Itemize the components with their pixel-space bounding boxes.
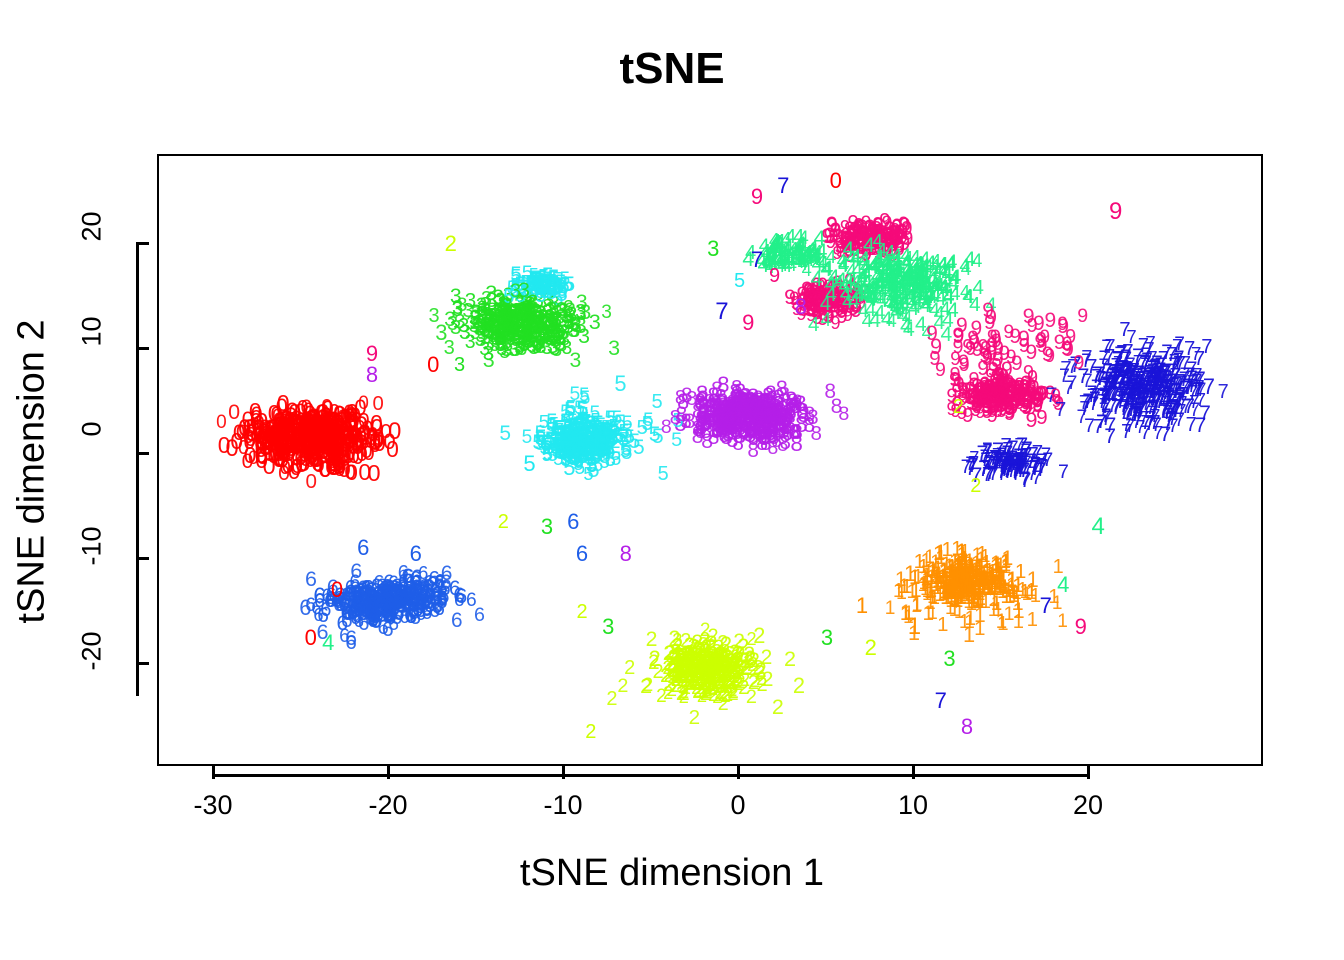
scatter-point: 1	[996, 612, 1008, 633]
scatter-point: 0	[344, 403, 356, 424]
scatter-point: 5	[621, 443, 632, 463]
scatter-point: 7	[751, 249, 763, 271]
scatter-point: 0	[341, 430, 352, 450]
scatter-point: 0	[263, 439, 274, 458]
scatter-point: 7	[1040, 595, 1052, 617]
scatter-point: 2	[680, 632, 691, 652]
scatter-point: 0	[277, 414, 289, 435]
scatter-point: 7	[1187, 373, 1198, 394]
x-tick-label: -30	[173, 790, 253, 821]
scatter-point: 0	[277, 443, 289, 464]
scatter-point: 4	[1057, 574, 1069, 596]
scatter-point: 1	[950, 591, 961, 611]
scatter-point: 4	[900, 252, 912, 273]
y-tick	[136, 662, 149, 665]
scatter-point: 0	[830, 170, 842, 192]
scatter-point: 7	[1030, 457, 1042, 479]
scatter-point: 5	[560, 403, 571, 423]
scatter-point: 5	[594, 434, 605, 454]
scatter-point: 9	[1008, 377, 1018, 395]
scatter-point: 2	[953, 397, 964, 417]
scatter-point: 8	[777, 420, 788, 439]
y-tick-label: 10	[77, 317, 108, 377]
scatter-point: 9	[930, 336, 942, 358]
scatter-point: 8	[699, 414, 711, 435]
scatter-point: 4	[961, 260, 972, 280]
scatter-point: 8	[763, 406, 775, 427]
scatter-point: 7	[1141, 394, 1152, 414]
scatter-point: 2	[784, 648, 796, 670]
scatter-point: 6	[393, 586, 404, 606]
scatter-point: 4	[322, 632, 334, 654]
x-tick-label: 10	[873, 790, 953, 821]
scatter-point: 2	[585, 722, 596, 742]
scatter-point: 0	[367, 425, 378, 445]
x-tick-label: 0	[698, 790, 778, 821]
page-title: tSNE	[0, 44, 1344, 94]
scatter-point: 4	[877, 242, 888, 261]
scatter-point: 8	[795, 296, 807, 318]
scatter-point: 9	[970, 318, 982, 339]
scatter-point: 3	[579, 302, 591, 323]
scatter-point: 7	[1201, 337, 1212, 357]
scatter-point: 9	[1023, 383, 1035, 405]
scatter-point: 8	[675, 388, 686, 408]
scatter-point: 1	[937, 615, 948, 635]
scatter-point: 4	[972, 252, 983, 271]
scatter-point: 2	[708, 645, 719, 664]
scatter-point: 5	[594, 414, 606, 436]
scatter-point: 1	[980, 593, 991, 612]
x-tick	[912, 766, 915, 779]
scatter-point: 0	[427, 354, 439, 376]
scatter-point: 2	[660, 667, 671, 686]
scatter-point: 4	[808, 315, 819, 336]
scatter-point: 0	[338, 446, 350, 468]
scatter-point: 2	[762, 669, 774, 690]
y-tick	[136, 557, 149, 560]
scatter-point: 5	[523, 453, 535, 475]
x-axis-title: tSNE dimension 1	[0, 852, 1344, 895]
scatter-point: 5	[579, 386, 590, 405]
scatter-point: 2	[624, 658, 635, 678]
scatter-point: 3	[556, 300, 567, 320]
scatter-point: 4	[842, 293, 853, 312]
scatter-point: 5	[614, 373, 626, 395]
scatter-point: 9	[1042, 344, 1054, 366]
scatter-point: 6	[576, 543, 588, 565]
scatter-point: 5	[651, 392, 662, 412]
scatter-point: 3	[454, 355, 465, 375]
scatter-point: 3	[601, 303, 612, 322]
y-axis-title: tSNE dimension 2	[11, 166, 54, 778]
scatter-point: 3	[821, 627, 833, 649]
scatter-point: 5	[734, 271, 745, 291]
scatter-point: 5	[584, 424, 595, 443]
scatter-point: 0	[368, 462, 381, 486]
scatter-point: 8	[749, 421, 760, 441]
x-tick	[387, 766, 390, 779]
scatter-point: 9	[1023, 305, 1035, 327]
scatter-point: 7	[715, 300, 728, 324]
scatter-point: 2	[668, 628, 680, 650]
scatter-point: 4	[863, 288, 874, 308]
scatter-point: 0	[297, 416, 308, 437]
scatter-point: 2	[970, 476, 981, 496]
scatter-point: 1	[1011, 592, 1023, 614]
scatter-point: 9	[989, 327, 1001, 348]
scatter-point: 3	[570, 315, 581, 334]
x-tick-label: 20	[1048, 790, 1128, 821]
scatter-point: 9	[1109, 200, 1122, 224]
scatter-point: 2	[577, 602, 588, 622]
scatter-point: 0	[331, 579, 343, 601]
scatter-point: 5	[546, 431, 557, 450]
y-axis-line	[136, 243, 139, 696]
scatter-point: 3	[510, 282, 521, 302]
scatter-point: 7	[1120, 390, 1132, 412]
scatter-point: 8	[620, 543, 632, 565]
scatter-point: 2	[865, 637, 877, 659]
scatter-point: 8	[766, 428, 777, 447]
y-tick	[136, 452, 149, 455]
scatter-point: 7	[935, 690, 947, 712]
scatter-point: 4	[774, 236, 785, 256]
scatter-point: 3	[450, 318, 462, 339]
scatter-point: 8	[717, 395, 729, 416]
scatter-point: 9	[983, 380, 995, 401]
scatter-point: 3	[570, 350, 582, 371]
scatter-point: 9	[742, 312, 754, 334]
scatter-point: 7	[1102, 361, 1113, 381]
scatter-point: 5	[622, 414, 633, 434]
scatter-point: 4	[811, 268, 823, 290]
scatter-point: 7	[777, 175, 789, 197]
scatter-point: 3	[707, 238, 719, 260]
scatter-point: 2	[730, 648, 741, 667]
scatter-point: 7	[1149, 369, 1161, 390]
scatter-point: 2	[642, 676, 653, 696]
scatter-point: 2	[498, 512, 509, 532]
scatter-point: 7	[1119, 320, 1130, 340]
scatter-point: 8	[961, 716, 973, 738]
plot-frame: 0000000000000000000000000000000000000000…	[157, 154, 1263, 766]
y-tick-label: 20	[77, 212, 108, 272]
scatter-point: 0	[386, 438, 399, 461]
x-tick	[737, 766, 740, 779]
scatter-point: 4	[825, 274, 837, 295]
scatter-point: 2	[672, 664, 684, 686]
scatter-point: 9	[956, 315, 968, 336]
scatter-point: 2	[648, 653, 660, 674]
scatter-point: 8	[831, 396, 843, 417]
scatter-point: 6	[451, 611, 463, 632]
scatter-point: 7	[1091, 377, 1103, 398]
x-tick-label: -10	[523, 790, 603, 821]
scatter-point: 0	[228, 402, 240, 424]
scatter-point: 6	[474, 606, 485, 626]
scatter-point: 2	[700, 621, 711, 640]
scatter-point: 5	[658, 465, 669, 485]
scatter-point: 1	[885, 599, 896, 618]
scatter-point: 0	[306, 472, 317, 493]
scatter-point: 9	[1044, 310, 1056, 331]
x-tick	[212, 766, 215, 779]
scatter-point: 9	[1054, 332, 1066, 353]
scatter-point: 0	[225, 438, 238, 462]
scatter-point: 6	[299, 597, 311, 619]
scatter-point: 2	[749, 671, 761, 692]
scatter-point: 6	[432, 595, 444, 616]
scatter-point: 5	[649, 424, 661, 445]
y-tick	[136, 242, 149, 245]
scatter-point: 1	[933, 565, 945, 587]
x-tick	[562, 766, 565, 779]
scatter-point: 7	[967, 456, 978, 476]
scatter-point: 1	[1057, 612, 1068, 631]
scatter-point: 3	[537, 320, 548, 340]
scatter-point: 9	[1050, 387, 1061, 407]
scatter-point: 9	[1023, 363, 1034, 383]
scatter-point: 2	[753, 625, 765, 647]
scatter-point: 4	[820, 294, 831, 314]
scatter-point: 4	[925, 279, 937, 300]
scatter-point: 8	[661, 418, 672, 438]
scatter-point: 6	[424, 573, 435, 594]
scatter-point: 1	[964, 613, 975, 632]
scatter-point: 0	[248, 449, 259, 469]
scatter-point: 3	[551, 340, 562, 360]
scatter-point: 4	[881, 309, 893, 330]
x-tick	[1087, 766, 1090, 779]
scatter-point: 4	[915, 315, 927, 336]
scatter-point: 6	[434, 572, 446, 593]
scatter-point: 9	[992, 349, 1004, 370]
scatter-point: 1	[995, 575, 1006, 595]
scatter-point: 9	[1025, 342, 1037, 363]
scatter-point: 9	[935, 361, 946, 381]
scatter-point: 1	[908, 615, 921, 639]
scatter-point: 2	[617, 677, 628, 697]
scatter-point: 6	[357, 537, 369, 559]
scatter-point: 7	[1107, 396, 1118, 416]
scatter-point: 9	[826, 215, 838, 236]
scatter-point: 1	[1027, 569, 1039, 591]
scatter-point: 7	[994, 448, 1005, 468]
scatter-point: 1	[856, 595, 868, 617]
scatter-point: 2	[676, 685, 687, 705]
scatter-point: 7	[1079, 399, 1091, 420]
scatter-point: 7	[1121, 422, 1132, 442]
scatter-point: 9	[1003, 323, 1014, 343]
scatter-point: 4	[895, 302, 906, 321]
scatter-point: 9	[1077, 307, 1088, 327]
scatter-point: 2	[772, 697, 784, 718]
scatter-point: 6	[345, 628, 357, 649]
scatter-point: 5	[549, 269, 559, 288]
scatter-point: 1	[923, 604, 935, 625]
scatter-point: 5	[499, 424, 511, 445]
scatter-point: 3	[486, 306, 498, 327]
scatter-point: 6	[382, 606, 393, 626]
scatter-point: 6	[567, 511, 579, 533]
scatter-point: 7	[1181, 397, 1192, 417]
scatter-point: 5	[671, 431, 682, 451]
scatter-point: 3	[474, 328, 486, 350]
scatter-point: 5	[633, 437, 645, 458]
scatter-point: 9	[751, 186, 763, 208]
scatter-point: 0	[321, 398, 332, 418]
scatter-point: 7	[1058, 463, 1069, 483]
scatter-point: 0	[358, 394, 369, 413]
scatter-point: 0	[373, 394, 384, 414]
scatter-point: 4	[851, 260, 863, 281]
scatter-point: 1	[946, 556, 958, 578]
scatter-point: 9	[953, 338, 964, 358]
scatter-point: 3	[522, 305, 533, 324]
scatter-point: 4	[792, 246, 804, 267]
scatter-point: 9	[1075, 616, 1087, 638]
tsne-scatter-plot: tSNE 00000000000000000000000000000000000…	[0, 0, 1344, 960]
scatter-point: 9	[1073, 353, 1084, 373]
scatter-point: 1	[962, 587, 974, 608]
scatter-point: 4	[1092, 515, 1105, 539]
scatter-point: 1	[975, 549, 987, 571]
x-tick-label: -20	[348, 790, 428, 821]
scatter-point: 7	[1104, 338, 1115, 358]
scatter-point: 8	[366, 364, 378, 386]
scatter-point: 2	[606, 689, 617, 709]
y-tick-label: 0	[77, 422, 108, 482]
scatter-point: 2	[707, 664, 718, 683]
scatter-point: 9	[1008, 396, 1019, 415]
scatter-point: 0	[305, 627, 317, 649]
y-tick-label: -10	[77, 527, 108, 587]
scatter-points-layer: 0000000000000000000000000000000000000000…	[159, 156, 1261, 764]
scatter-point: 3	[943, 648, 955, 670]
scatter-point: 4	[947, 272, 959, 294]
y-tick-label: -20	[77, 632, 108, 692]
scatter-point: 3	[483, 350, 495, 372]
scatter-point: 3	[503, 313, 514, 333]
scatter-point: 2	[445, 233, 457, 255]
scatter-point: 4	[962, 287, 973, 308]
scatter-point: 7	[1007, 457, 1018, 477]
scatter-point: 8	[811, 424, 822, 445]
y-tick	[136, 347, 149, 350]
scatter-point: 3	[602, 616, 614, 638]
scatter-point: 3	[608, 337, 620, 359]
scatter-point: 0	[261, 419, 272, 439]
scatter-point: 2	[689, 708, 700, 729]
scatter-point: 3	[541, 516, 553, 538]
scatter-point: 6	[410, 543, 422, 565]
scatter-point: 0	[216, 413, 227, 432]
scatter-point: 2	[646, 629, 658, 650]
scatter-point: 6	[415, 592, 427, 614]
scatter-point: 6	[347, 593, 358, 613]
scatter-point: 7	[1132, 373, 1144, 394]
scatter-point: 6	[398, 564, 409, 584]
scatter-point: 2	[793, 675, 805, 697]
scatter-point: 0	[351, 432, 363, 453]
scatter-point: 6	[313, 585, 325, 607]
scatter-point: 8	[742, 398, 754, 419]
scatter-point: 5	[522, 428, 533, 447]
scatter-point: 9	[769, 266, 780, 286]
scatter-point: 7	[1158, 403, 1169, 422]
scatter-point: 7	[1144, 341, 1155, 361]
scatter-point: 7	[1218, 383, 1229, 403]
scatter-point: 1	[1027, 610, 1038, 630]
scatter-point: 1	[974, 619, 985, 639]
x-axis-line	[213, 774, 1090, 777]
scatter-point: 0	[299, 442, 311, 463]
scatter-point: 2	[718, 695, 729, 715]
